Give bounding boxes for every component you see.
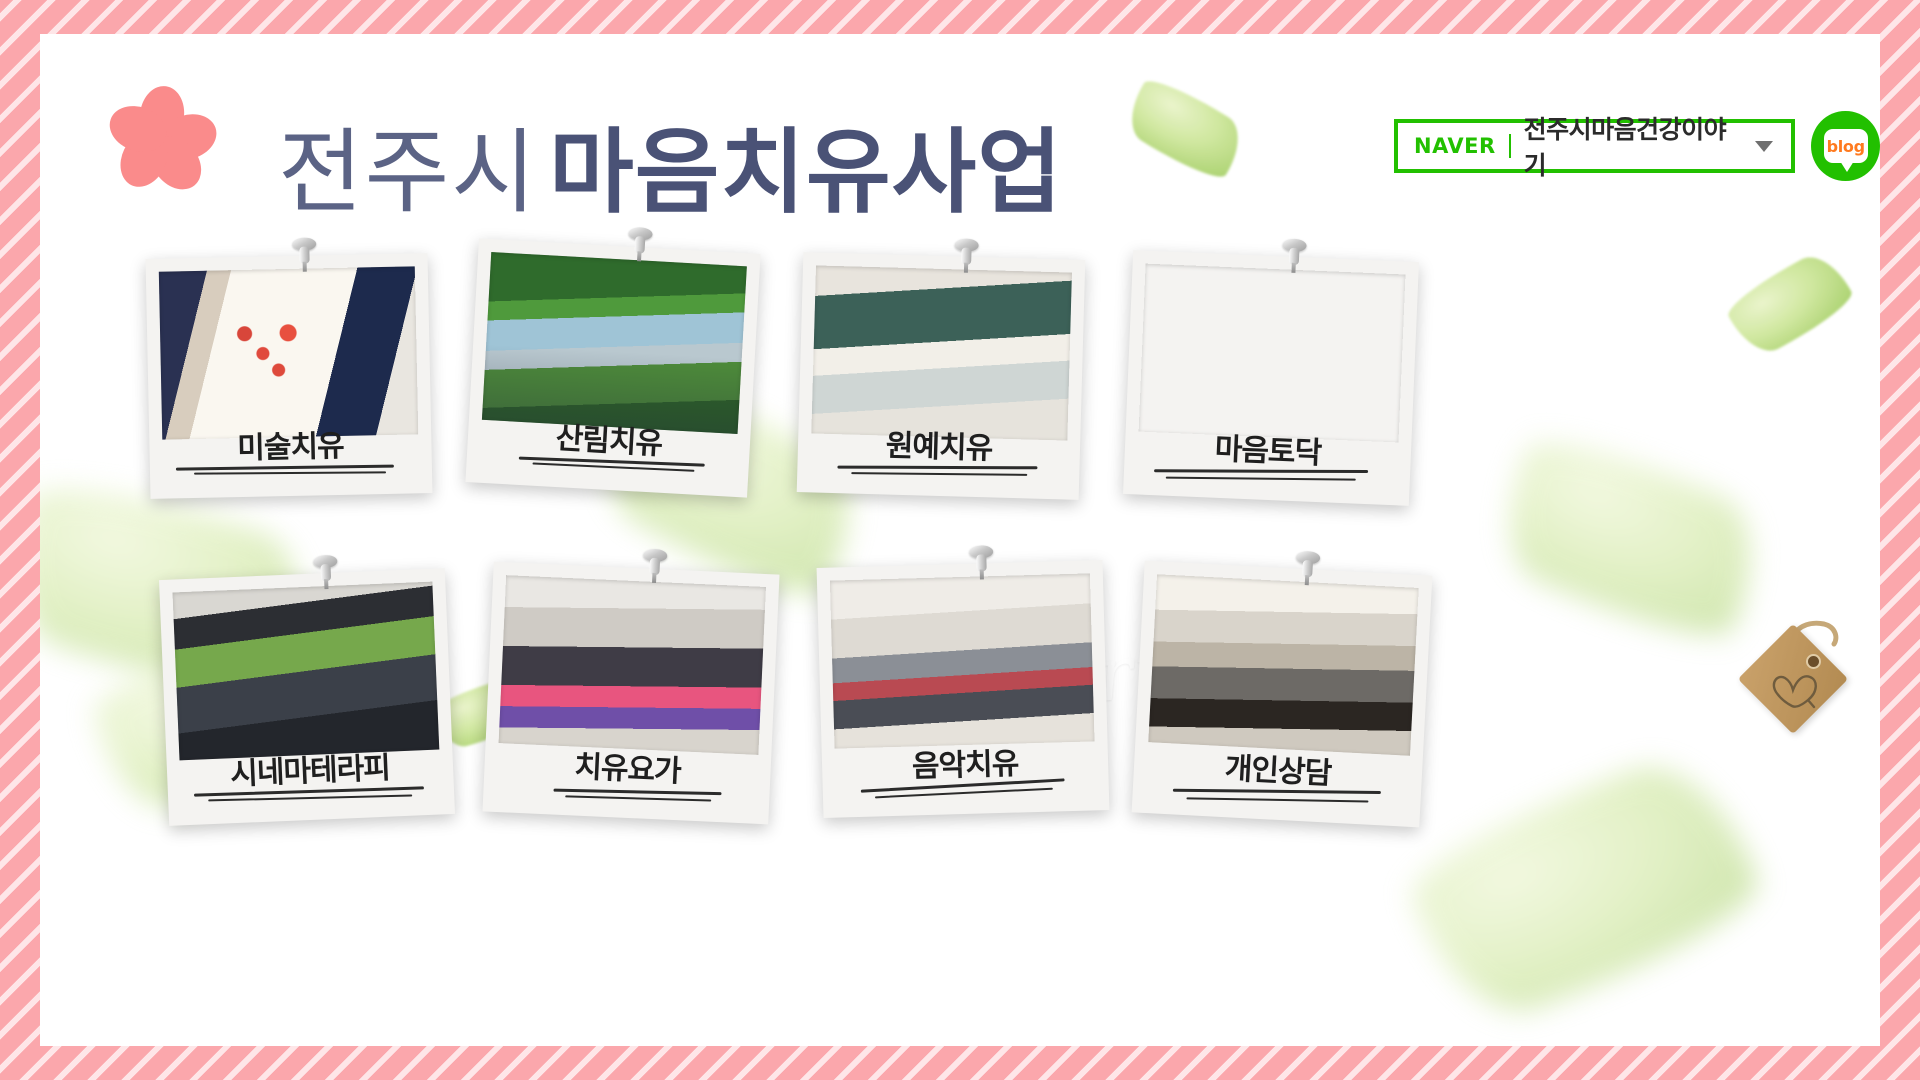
naver-blog-widget[interactable]: NAVER 전주시마음건강이야기 blog [1394, 111, 1880, 181]
poster-stage: 전주시 마음치유사업 NAVER 전주시마음건강이야기 blog Spring … [40, 34, 1880, 1046]
photo-card[interactable]: 음악치유 [817, 560, 1110, 818]
card-photo [830, 573, 1095, 748]
card-photo [173, 582, 440, 761]
pushpin-icon [1280, 238, 1307, 273]
page-title-bold: 마음치유사업 [549, 119, 1063, 226]
flower-icon [118, 86, 214, 186]
blog-badge-label: blog [1827, 137, 1865, 156]
photo-card[interactable]: 원예치유 [797, 252, 1086, 500]
leaf-icon [1481, 418, 1780, 661]
blog-badge-button[interactable]: blog [1811, 111, 1880, 181]
card-photo [499, 575, 766, 755]
card-photo [1148, 574, 1418, 755]
naver-blog-name: 전주시마음건강이야기 [1524, 110, 1742, 182]
page-title: 전주시 마음치유사업 [278, 127, 1063, 219]
leaf-icon [1721, 246, 1859, 362]
speech-bubble-icon: blog [1824, 129, 1868, 163]
naver-brand-label: NAVER [1414, 134, 1496, 158]
pushpin-icon [626, 227, 654, 262]
pushpin-icon [968, 545, 995, 580]
pushpin-icon [312, 555, 339, 590]
card-caption: 원예치유 [798, 418, 1081, 470]
photo-card[interactable]: 미술치유 [146, 253, 433, 499]
photo-card[interactable]: 치유요가 [482, 562, 779, 825]
pushpin-icon [953, 238, 980, 273]
card-caption: 미술치유 [149, 419, 432, 469]
pushpin-icon [291, 237, 318, 272]
pushpin-icon [641, 548, 669, 583]
chevron-down-icon[interactable] [1755, 141, 1773, 152]
card-photo [811, 265, 1072, 440]
leaf-icon [1397, 743, 1772, 1034]
photo-card[interactable]: 산림치유 [465, 238, 760, 497]
card-photo [482, 252, 747, 434]
pushpin-icon [1294, 551, 1322, 586]
photo-card[interactable]: 개인상담 [1132, 561, 1433, 828]
card-photo [159, 266, 418, 439]
page-title-light: 전주시 [278, 119, 538, 226]
gift-tag-icon [1740, 610, 1870, 730]
leaf-icon [1117, 70, 1252, 189]
photo-card[interactable]: 마음토닥 [1123, 250, 1419, 506]
card-caption: 음악치유 [821, 736, 1108, 788]
card-photo [1139, 264, 1406, 443]
photo-card[interactable]: 시네마테라피 [159, 568, 455, 826]
naver-blog-selector[interactable]: NAVER 전주시마음건강이야기 [1394, 119, 1795, 173]
divider [1509, 134, 1511, 158]
